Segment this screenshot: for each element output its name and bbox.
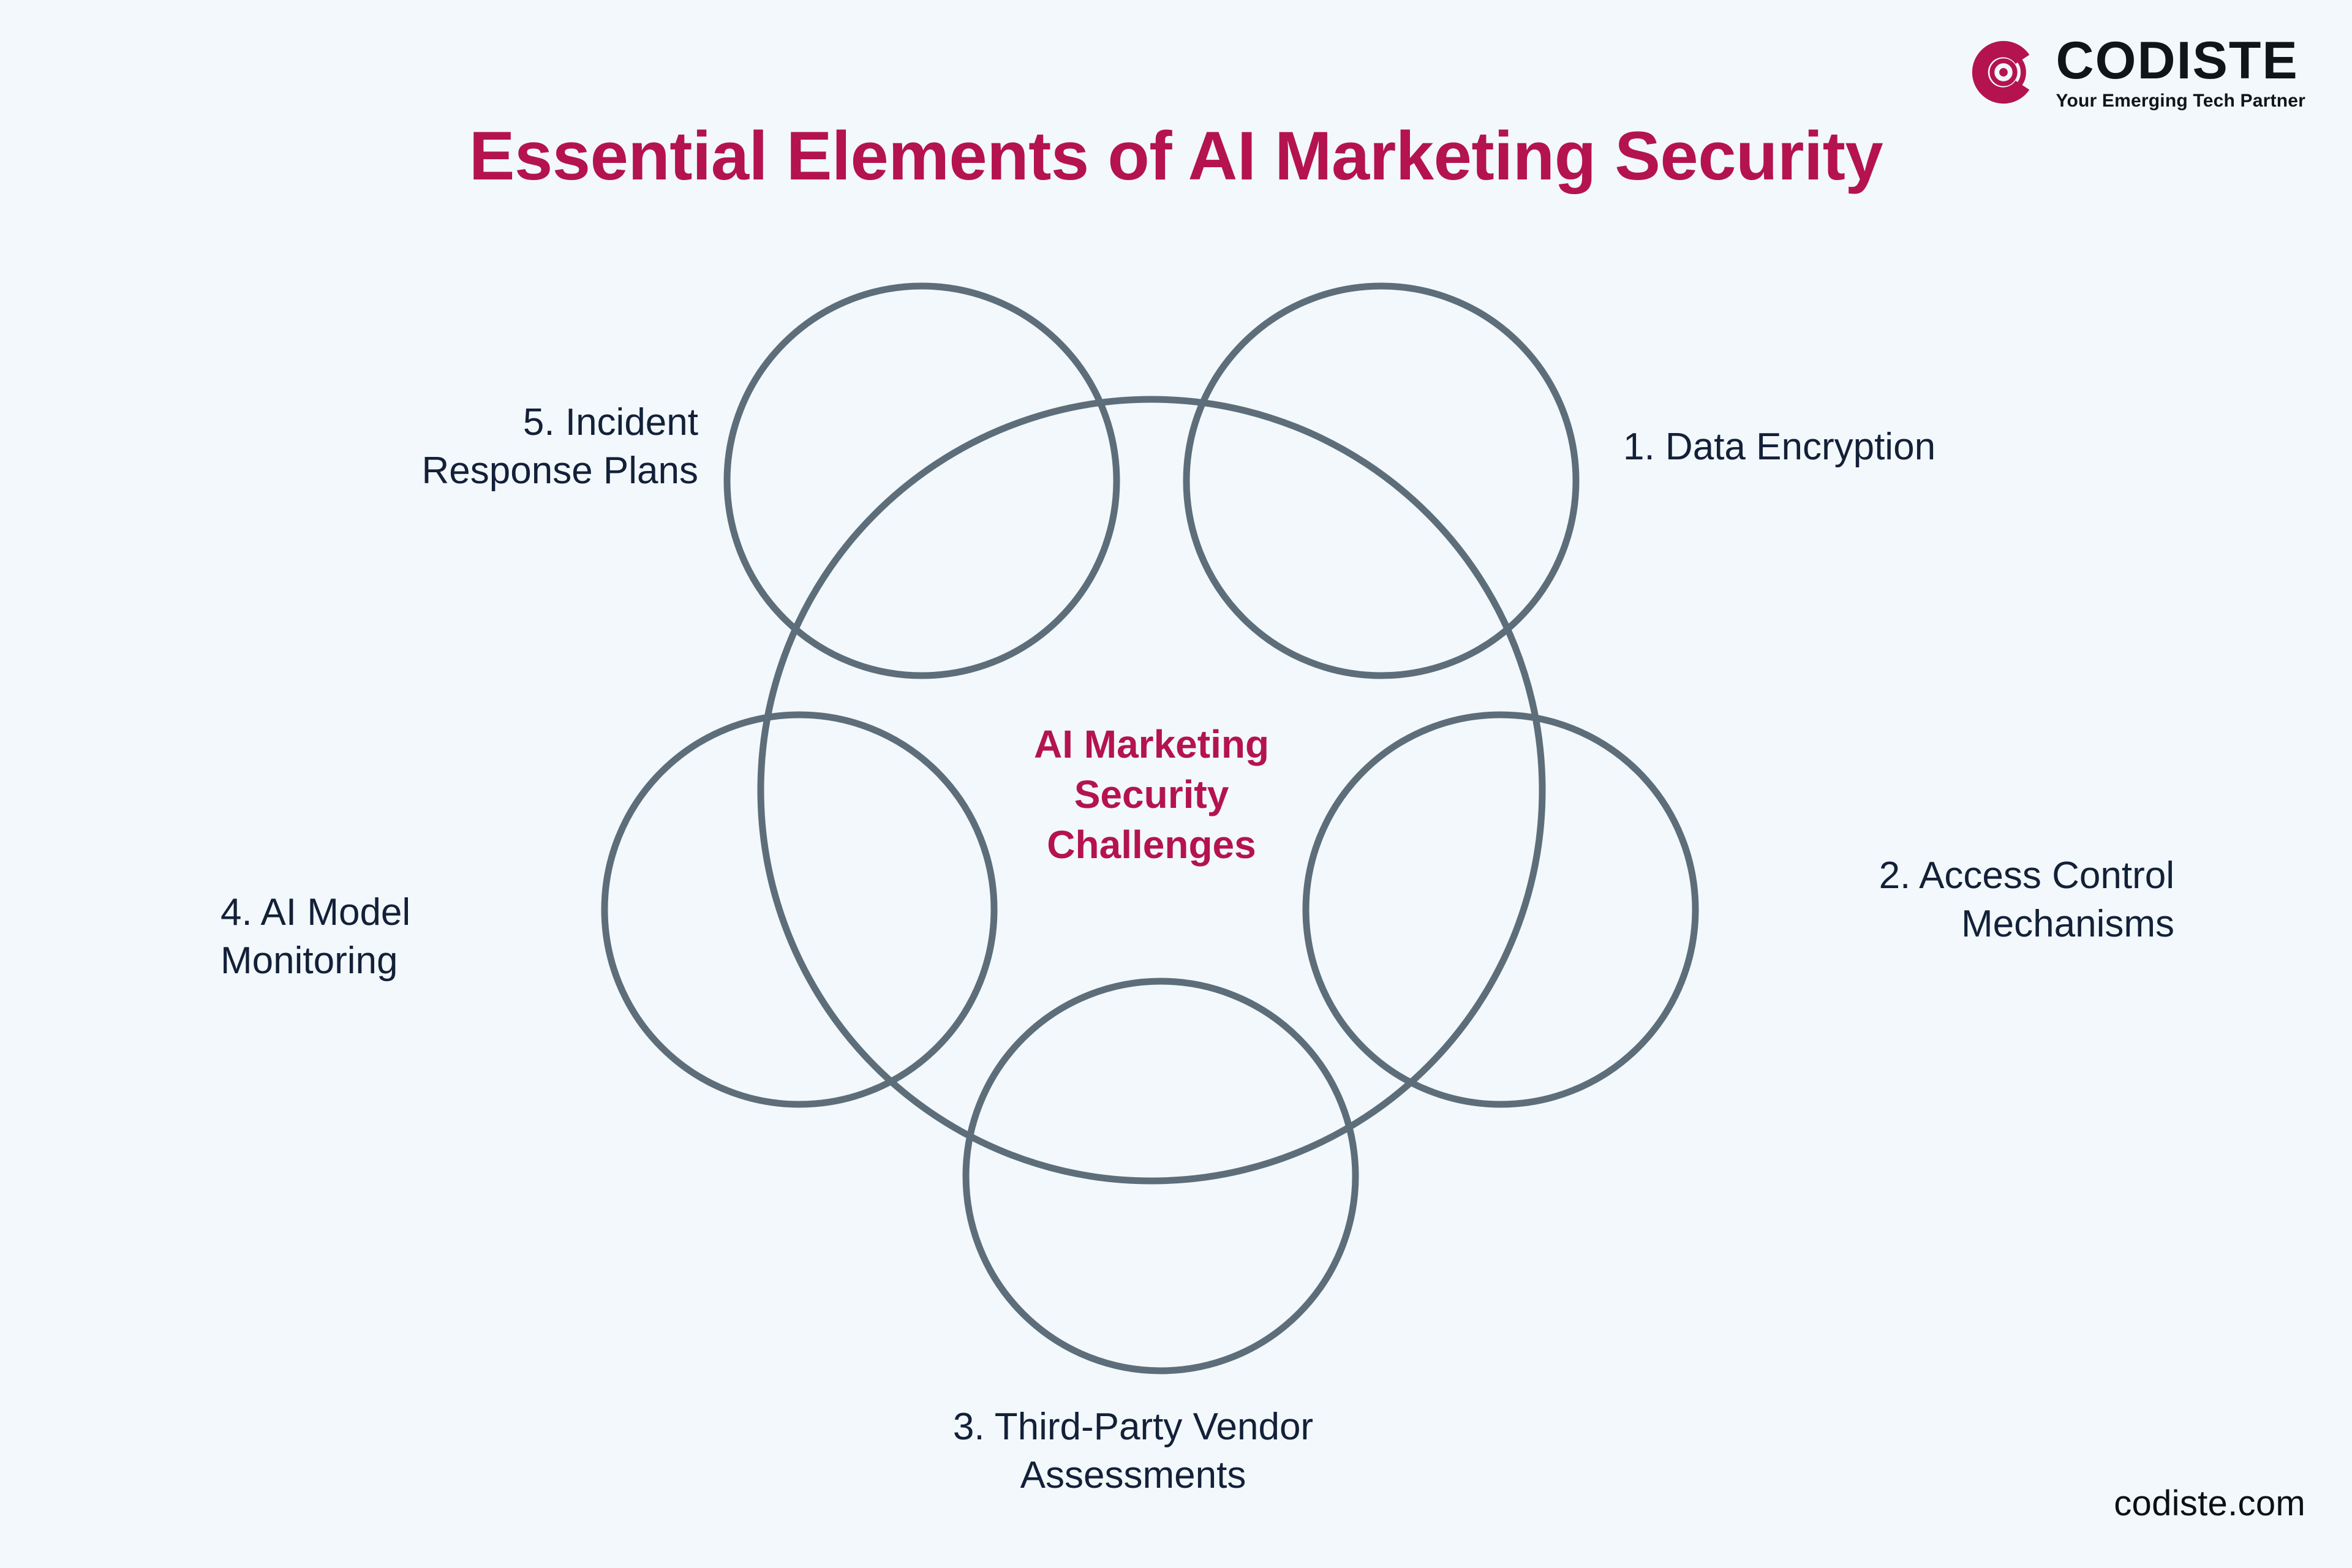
center-label-line-2: Security bbox=[956, 770, 1347, 820]
node-label-ai-model-monitoring: 4. AI Model Monitoring bbox=[221, 888, 772, 986]
satellite-circle-incident-response bbox=[727, 286, 1117, 676]
node-label-third-party-vendor-assessments: 3. Third-Party Vendor Assessments bbox=[796, 1403, 1470, 1500]
satellite-circle-data-encryption bbox=[1186, 286, 1576, 676]
center-label-line-1: AI Marketing bbox=[956, 720, 1347, 770]
satellite-circle-vendor-assessments bbox=[966, 981, 1355, 1371]
node-label-incident-response-plans: 5. Incident Response Plans bbox=[178, 398, 698, 496]
center-label: AI Marketing Security Challenges bbox=[956, 720, 1347, 870]
node-label-data-encryption: 1. Data Encryption bbox=[1623, 423, 2174, 471]
node-label-access-control-mechanisms: 2. Access Control Mechanisms bbox=[1593, 851, 2174, 949]
center-label-line-3: Challenges bbox=[956, 820, 1347, 870]
infographic-canvas: CODISTE Your Emerging Tech Partner Essen… bbox=[0, 0, 2352, 1568]
footer-website-url: codiste.com bbox=[2114, 1483, 2305, 1524]
